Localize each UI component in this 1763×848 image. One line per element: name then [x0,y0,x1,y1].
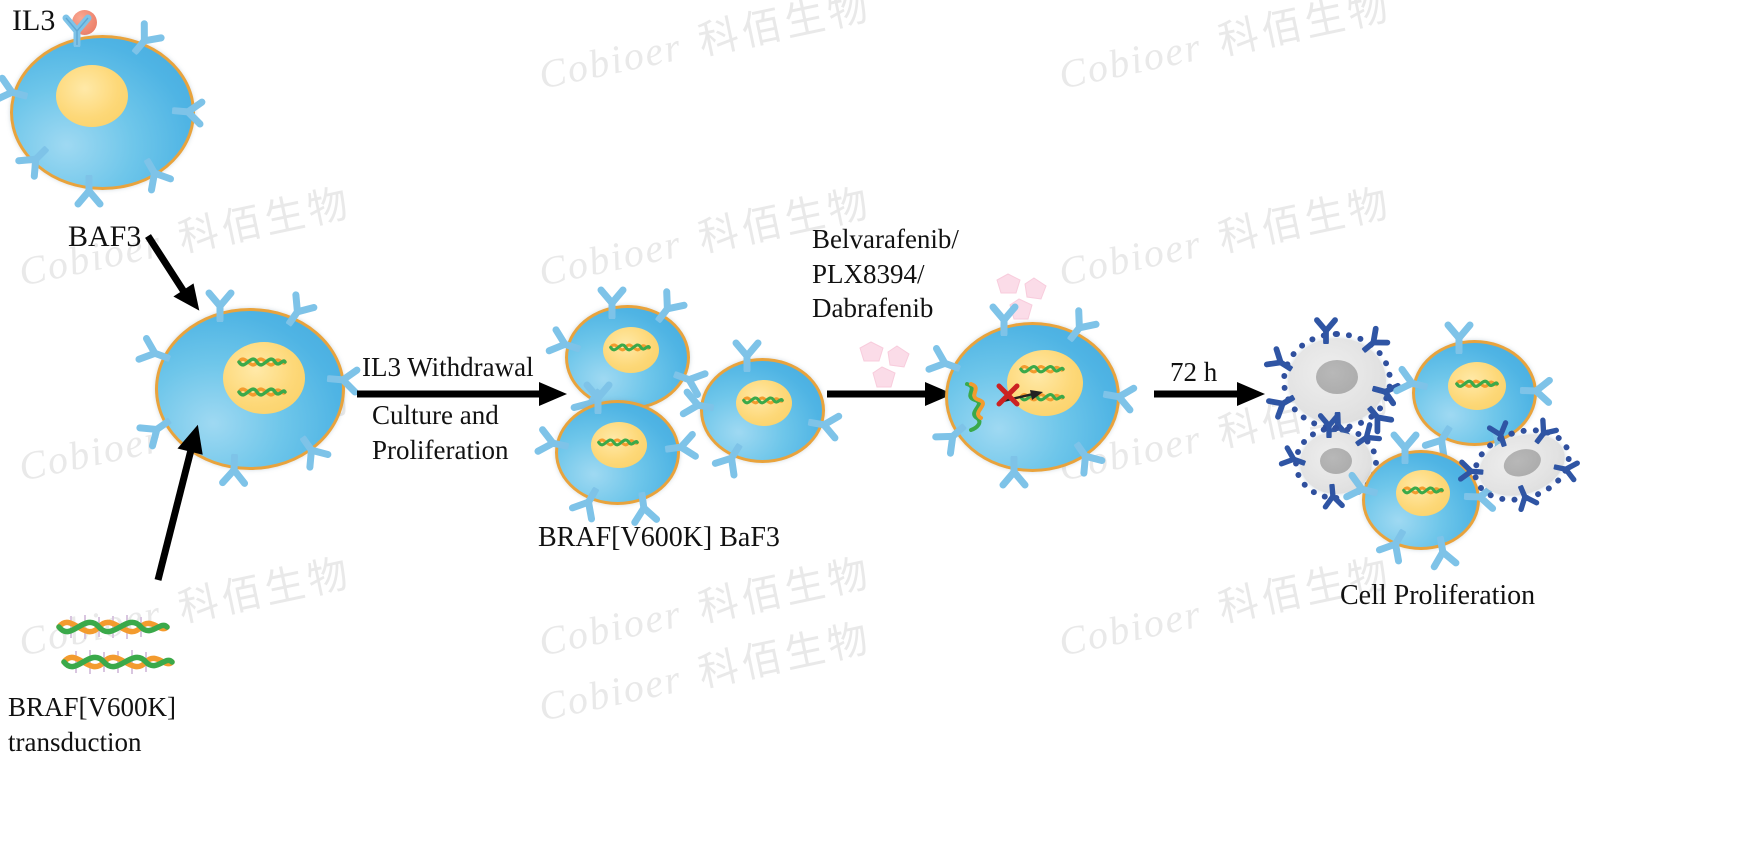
dna-mark-icon [742,392,784,410]
cell-nucleus [1396,470,1450,516]
dna-mark-icon [1402,482,1444,500]
receptor-icon [1442,320,1476,354]
receptor-icon [1316,412,1342,438]
dna-mark-icon [1019,360,1065,378]
receptor-icon [1551,454,1582,485]
receptor-icon [1457,457,1485,485]
receptor-icon [532,423,572,463]
receptor-icon [1388,430,1422,464]
watermark: Cobioer科佰生物 [535,575,874,633]
receptor-icon [1519,373,1554,408]
watermark: Cobioer科佰生物 [535,8,874,66]
receptor-icon [1312,316,1340,344]
watermark-latin: Cobioer [535,23,687,99]
braf-baf3-label: BRAF[V600K] BaF3 [538,520,780,556]
dna-mark-icon [237,352,287,372]
receptor-icon [203,288,237,322]
receptor-icon [677,385,716,424]
baf3-label: BAF3 [68,218,141,256]
receptor-icon [1423,533,1462,572]
cell-drug-treated [945,322,1120,472]
receptor-icon [730,338,764,372]
receptor-icon [60,13,94,47]
drug-names-label: Belvarafenib/ PLX8394/ Dabrafenib [812,222,959,326]
watermark-latin: Cobioer [1055,23,1207,99]
arrow-72h [1152,382,1267,406]
receptor-icon [171,94,208,131]
cell-nucleus [56,65,128,127]
cell-braf-baf3 [555,400,680,505]
arrow-dna-to-transduced [148,418,218,588]
dna-helix-icon [60,645,175,679]
watermark: Cobioer科佰生物 [1055,205,1394,263]
cell-nucleus [603,327,659,373]
receptor-icon [72,175,106,209]
watermark-cjk: 科佰生物 [1212,0,1396,67]
cell-braf-baf3 [700,358,825,463]
dna-mark-icon [1455,375,1499,393]
receptor-icon [216,453,251,488]
receptor-icon [663,428,701,466]
receptor-icon [581,380,615,414]
arrow-drug-treatment [825,382,955,406]
diagram-canvas: Cobioer科佰生物 Cobioer科佰生物 Cobioer科佰生物 Cobi… [0,0,1763,848]
cell-proliferation-label: Cell Proliferation [1340,578,1535,614]
receptor-icon [595,285,629,319]
dna-mark-icon [237,382,287,402]
receptor-icon [987,302,1021,336]
dna-helix-icon [55,610,170,644]
cell-nucleus [736,380,792,426]
transduction-label: BRAF[V600K] transduction [8,690,176,759]
watermark-cjk: 科佰生物 [692,605,876,698]
watermark-latin: Cobioer [535,655,687,731]
watermark-cjk: 科佰生物 [692,0,876,67]
watermark-latin: Cobioer [1055,220,1207,296]
watermark: Cobioer科佰生物 [535,640,874,698]
receptor-icon [997,456,1031,490]
inhibition-x-icon [993,380,1023,410]
cell-nucleus [223,342,305,414]
receptor-icon [1100,377,1139,416]
dna-mark-icon [597,434,639,452]
watermark: Cobioer科佰生物 [1055,8,1394,66]
cell-nucleus [591,422,647,468]
watermark-latin: Cobioer [535,590,687,666]
cell-nucleus [1448,362,1506,410]
dna-mark-icon [609,339,651,357]
culture-proliferation-label: Culture and Proliferation [372,398,508,467]
watermark-latin: Cobioer [1055,590,1207,666]
cell-baf3 [10,35,195,190]
cell-nucleus [1316,360,1358,394]
watermark-cjk: 科佰生物 [1212,170,1396,263]
receptor-icon [805,405,844,444]
cell-apoptotic [1471,424,1573,506]
il3-withdrawal-label: IL3 Withdrawal [362,350,534,385]
